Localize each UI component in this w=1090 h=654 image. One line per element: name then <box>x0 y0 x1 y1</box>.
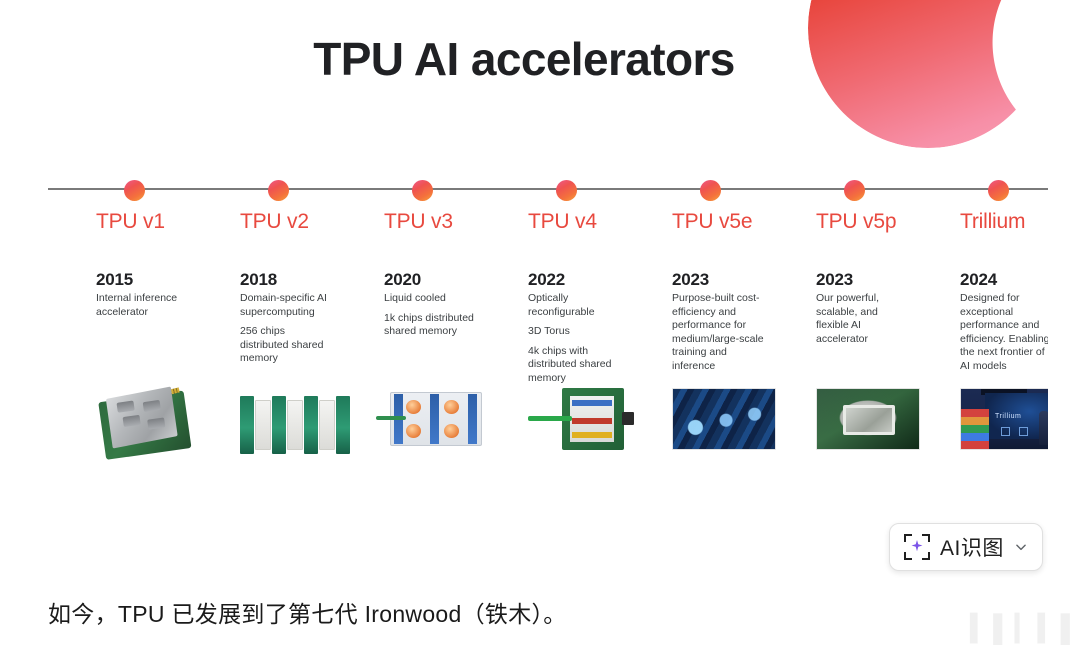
timeline-dot <box>124 180 145 201</box>
description-block: Liquid cooled 1k chips distributed share… <box>384 292 480 339</box>
ai-sparkle-scan-icon <box>904 534 930 560</box>
hardware-photo-tpu-v2 <box>240 396 348 456</box>
description-block: Internal inference accelerator <box>96 292 192 319</box>
description-block: Domain-specific AI supercomputing 256 ch… <box>240 292 336 366</box>
description-block: Purpose-built cost-efficiency and perfor… <box>672 292 768 373</box>
year-label: 2020 <box>384 270 421 290</box>
year-label: 2015 <box>96 270 133 290</box>
year-label: 2022 <box>528 270 565 290</box>
hardware-photo-tpu-v5p <box>816 388 920 450</box>
ai-image-recognition-button[interactable]: AI识图 <box>889 523 1043 571</box>
timeline-dot <box>844 180 865 201</box>
timeline-dot <box>700 180 721 201</box>
description-line: 256 chips distributed shared memory <box>240 325 336 366</box>
timeline-item-trillium: Trillium 2024 Designed for exceptional p… <box>912 150 1048 510</box>
page-title: TPU AI accelerators <box>0 32 1048 86</box>
hardware-photo-tpu-v4 <box>528 388 636 450</box>
description-block: Designed for exceptional performance and… <box>960 292 1048 373</box>
year-label: 2023 <box>672 270 709 290</box>
timeline-columns: TPU v1 2015 Internal inference accelerat… <box>48 150 1048 510</box>
generation-label: TPU v2 <box>240 210 309 234</box>
timeline-dot <box>268 180 289 201</box>
generation-label: TPU v3 <box>384 210 453 234</box>
year-label: 2024 <box>960 270 997 290</box>
hardware-photo-tpu-v3 <box>384 392 488 446</box>
year-label: 2018 <box>240 270 277 290</box>
timeline-item-tpu-v5e: TPU v5e 2023 Purpose-built cost-efficien… <box>624 150 760 510</box>
hardware-photo-tpu-v5e <box>672 388 776 450</box>
description-line: 3D Torus <box>528 325 624 339</box>
caption-text: 如今，TPU 已发展到了第七代 Ironwood（铁木）。 <box>48 595 567 629</box>
hardware-photo-tpu-v1 <box>91 381 201 470</box>
description-line: Optically reconfigurable <box>528 292 624 319</box>
description-block: Our powerful, scalable, and flexible AI … <box>816 292 912 346</box>
page-root: TPU AI accelerators TPU v1 2015 Internal… <box>0 0 1090 654</box>
description-line: Designed for exceptional performance and… <box>960 292 1048 373</box>
slide-image[interactable]: TPU AI accelerators TPU v1 2015 Internal… <box>0 0 1048 570</box>
description-block: Optically reconfigurable 3D Torus 4k chi… <box>528 292 624 385</box>
description-line: Liquid cooled <box>384 292 480 306</box>
timeline-item-tpu-v2: TPU v2 2018 Domain-specific AI supercomp… <box>192 150 328 510</box>
generation-label: TPU v5p <box>816 210 896 234</box>
timeline-item-tpu-v1: TPU v1 2015 Internal inference accelerat… <box>48 150 184 510</box>
generation-label: TPU v1 <box>96 210 165 234</box>
timeline-item-tpu-v5p: TPU v5p 2023 Our powerful, scalable, and… <box>768 150 904 510</box>
generation-label: Trillium <box>960 210 1025 234</box>
timeline-dot <box>412 180 433 201</box>
timeline-item-tpu-v4: TPU v4 2022 Optically reconfigurable 3D … <box>480 150 616 510</box>
chevron-down-icon[interactable] <box>1014 540 1028 554</box>
description-line: 4k chips with distributed shared memory <box>528 345 624 386</box>
timeline-dot <box>988 180 1009 201</box>
description-line: Internal inference accelerator <box>96 292 192 319</box>
generation-label: TPU v4 <box>528 210 597 234</box>
description-line: Our powerful, scalable, and flexible AI … <box>816 292 912 346</box>
year-label: 2023 <box>816 270 853 290</box>
description-line: 1k chips distributed shared memory <box>384 312 480 339</box>
description-line: Purpose-built cost-efficiency and perfor… <box>672 292 768 373</box>
watermark: ▍▌▎▍▌ <box>970 613 1082 644</box>
description-line: Domain-specific AI supercomputing <box>240 292 336 319</box>
timeline-dot <box>556 180 577 201</box>
generation-label: TPU v5e <box>672 210 752 234</box>
timeline-item-tpu-v3: TPU v3 2020 Liquid cooled 1k chips distr… <box>336 150 472 510</box>
hardware-photo-trillium: Trillium <box>960 388 1048 450</box>
ai-button-label: AI识图 <box>940 532 1004 562</box>
